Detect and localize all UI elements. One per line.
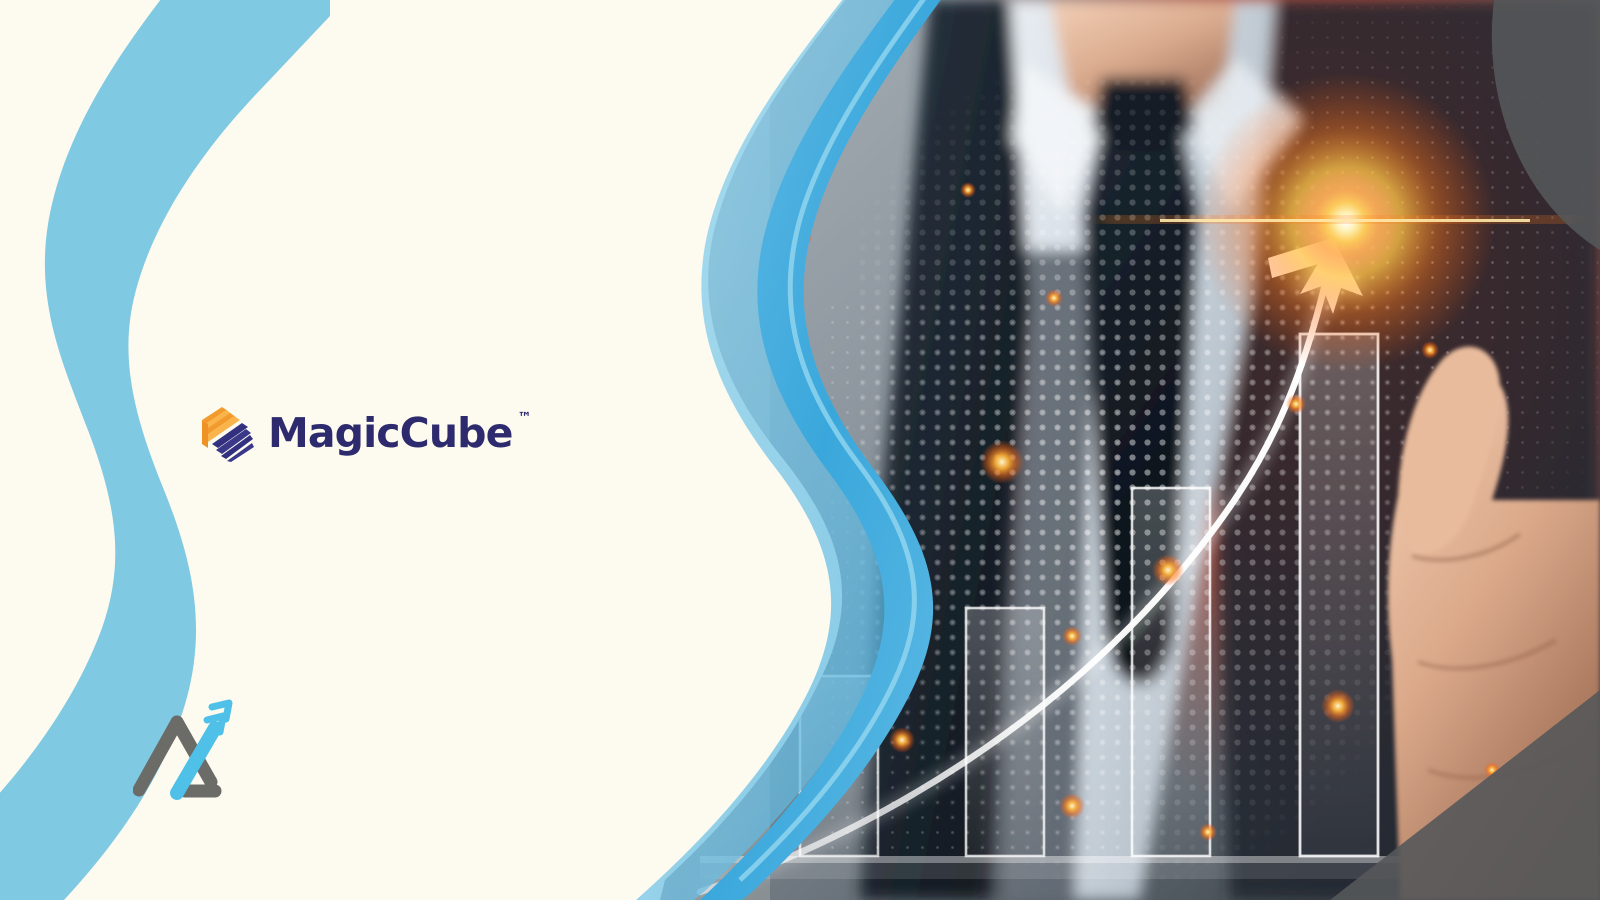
banner-canvas: MagicCube™ xyxy=(0,0,1600,900)
brand-lockup: MagicCube™ xyxy=(198,404,513,462)
brand-wordmark: MagicCube™ xyxy=(268,413,513,454)
layered-cube-icon xyxy=(198,404,254,462)
trademark-symbol: ™ xyxy=(518,411,532,425)
s-curve-ribbon-front xyxy=(700,0,948,900)
brand-name: MagicCube xyxy=(268,409,513,457)
triangle-arrow-logo-icon xyxy=(133,690,235,802)
